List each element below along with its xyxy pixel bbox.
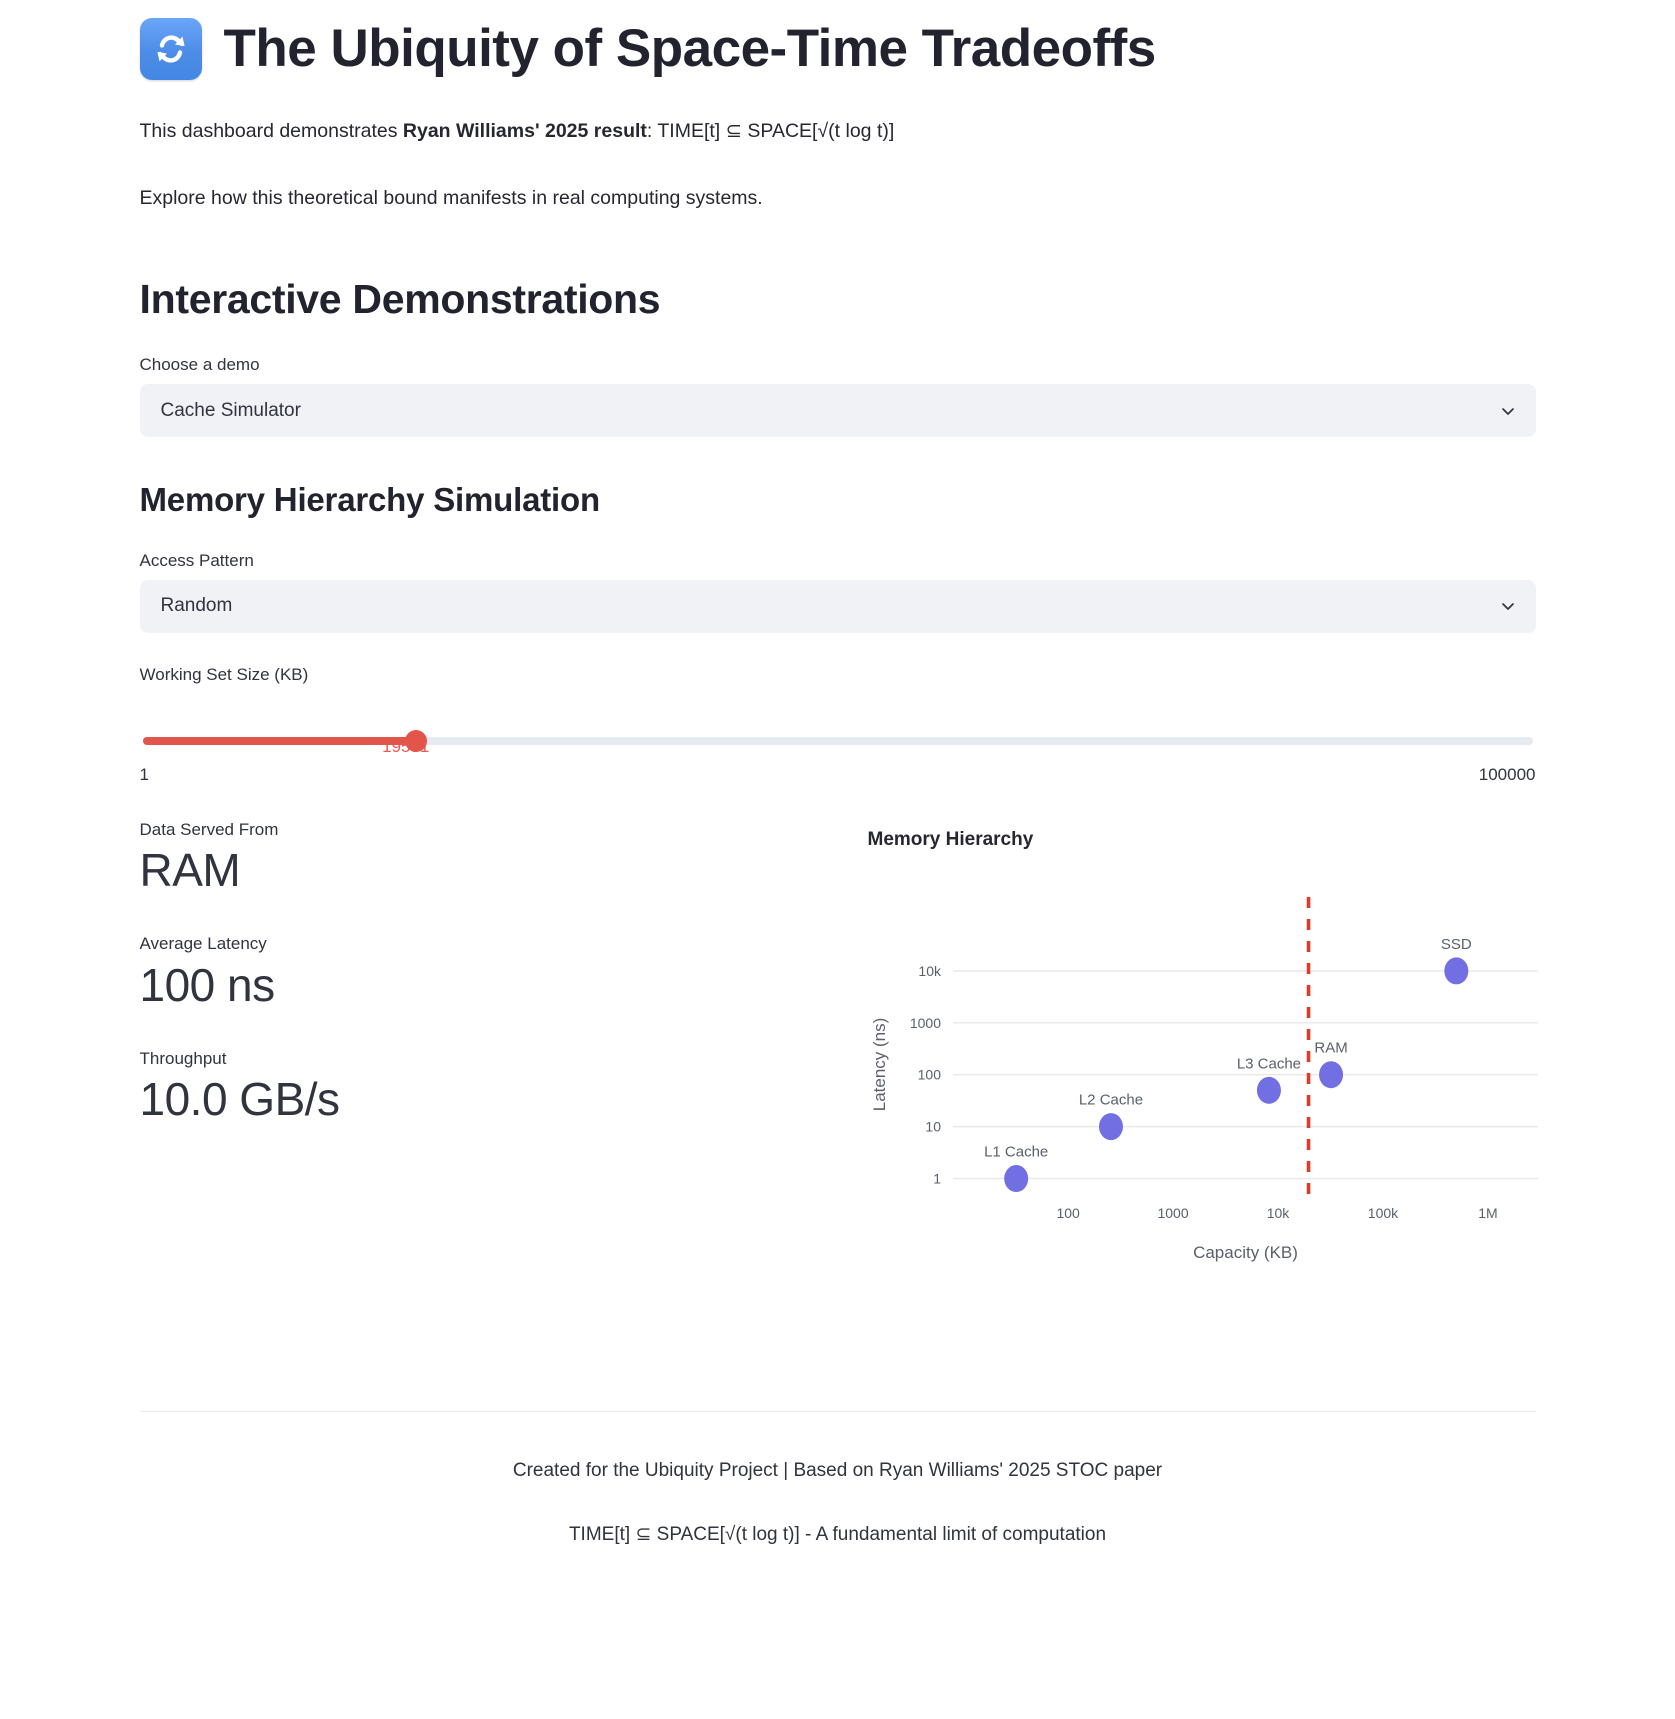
access-pattern-label: Access Pattern	[140, 549, 1536, 573]
data-point[interactable]	[1256, 1077, 1280, 1104]
chevron-down-icon[interactable]	[1499, 597, 1517, 615]
demo-select-value: Cache Simulator	[161, 400, 301, 422]
dashboard-page: The Ubiquity of Space-Time Tradeoffs Thi…	[0, 0, 1675, 1719]
footer-line-1: Created for the Ubiquity Project | Based…	[140, 1456, 1536, 1486]
slider-min-label: 1	[140, 765, 149, 785]
chevron-down-icon[interactable]	[1499, 402, 1517, 420]
working-set-slider[interactable]: 19531 1 100000	[140, 723, 1536, 785]
memory-hierarchy-plot[interactable]: 110100100010k100100010k100k1ML1 CacheL2 …	[848, 857, 1548, 1297]
chart-title: Memory Hierarchy	[868, 829, 1548, 851]
x-tick-label: 100k	[1367, 1205, 1398, 1221]
data-point-label: L3 Cache	[1236, 1055, 1300, 1072]
data-point-label: RAM	[1314, 1039, 1347, 1056]
working-set-slider-label: Working Set Size (KB)	[140, 663, 1536, 687]
metrics-column: Data Served From RAM Average Latency 100…	[140, 817, 840, 1299]
chart-column: Memory Hierarchy 110100100010k100100010k…	[840, 817, 1548, 1299]
x-tick-label: 1M	[1478, 1205, 1497, 1221]
y-tick-label: 1	[933, 1170, 941, 1186]
section-memory-simulation: Memory Hierarchy Simulation	[140, 481, 1536, 519]
y-tick-label: 1000	[909, 1015, 940, 1031]
results-row: Data Served From RAM Average Latency 100…	[140, 817, 1536, 1299]
metric-label: Average Latency	[140, 931, 840, 957]
y-axis-title: Latency (ns)	[870, 1017, 889, 1111]
demo-select[interactable]: Cache Simulator	[140, 384, 1536, 437]
footer-divider	[140, 1411, 1536, 1412]
memory-hierarchy-chart[interactable]: Memory Hierarchy 110100100010k100100010k…	[848, 829, 1548, 1299]
app-header: The Ubiquity of Space-Time Tradeoffs	[140, 0, 1536, 84]
data-point-label: L2 Cache	[1078, 1091, 1142, 1108]
slider-max-label: 100000	[1479, 765, 1536, 785]
data-point-label: L1 Cache	[984, 1143, 1048, 1160]
page-container: The Ubiquity of Space-Time Tradeoffs Thi…	[68, 0, 1608, 1551]
footer-line-2: TIME[t] ⊆ SPACE[√(t log t)] - A fundamen…	[140, 1520, 1536, 1550]
metric-data-served-from: Data Served From RAM	[140, 817, 840, 897]
data-point[interactable]	[1319, 1061, 1343, 1088]
metric-value: RAM	[140, 844, 840, 897]
metric-value: 10.0 GB/s	[140, 1073, 840, 1126]
x-tick-label: 10k	[1266, 1205, 1290, 1221]
intro-prefix: This dashboard demonstrates	[140, 120, 403, 142]
data-point[interactable]	[1098, 1113, 1122, 1140]
y-tick-label: 10k	[918, 963, 942, 979]
slider-fill	[143, 737, 417, 745]
intro-line-1: This dashboard demonstrates Ryan William…	[140, 116, 1536, 147]
page-title: The Ubiquity of Space-Time Tradeoffs	[224, 21, 1156, 77]
metric-value: 100 ns	[140, 959, 840, 1012]
intro-line-2: Explore how this theoretical bound manif…	[140, 183, 1536, 214]
demo-select-label: Choose a demo	[140, 353, 1536, 377]
x-axis-title: Capacity (KB)	[1193, 1243, 1298, 1262]
slider-track[interactable]	[140, 723, 1536, 763]
access-pattern-select[interactable]: Random	[140, 580, 1536, 633]
y-tick-label: 100	[917, 1066, 941, 1082]
slider-thumb[interactable]	[405, 730, 427, 752]
data-point[interactable]	[1444, 957, 1468, 984]
data-point[interactable]	[1004, 1165, 1028, 1192]
intro-bold: Ryan Williams' 2025 result	[403, 120, 647, 142]
section-interactive-demos: Interactive Demonstrations	[140, 276, 1536, 323]
x-tick-label: 1000	[1157, 1205, 1188, 1221]
metric-label: Data Served From	[140, 817, 840, 843]
slider-range-labels: 1 100000	[140, 765, 1536, 785]
metric-label: Throughput	[140, 1046, 840, 1072]
refresh-sync-icon	[140, 18, 202, 80]
metric-average-latency: Average Latency 100 ns	[140, 931, 840, 1011]
y-tick-label: 10	[925, 1118, 941, 1134]
metric-throughput: Throughput 10.0 GB/s	[140, 1046, 840, 1126]
x-tick-label: 100	[1056, 1205, 1080, 1221]
access-pattern-value: Random	[161, 595, 233, 617]
data-point-label: SSD	[1440, 936, 1471, 953]
intro-suffix: : TIME[t] ⊆ SPACE[√(t log t)]	[647, 120, 894, 142]
